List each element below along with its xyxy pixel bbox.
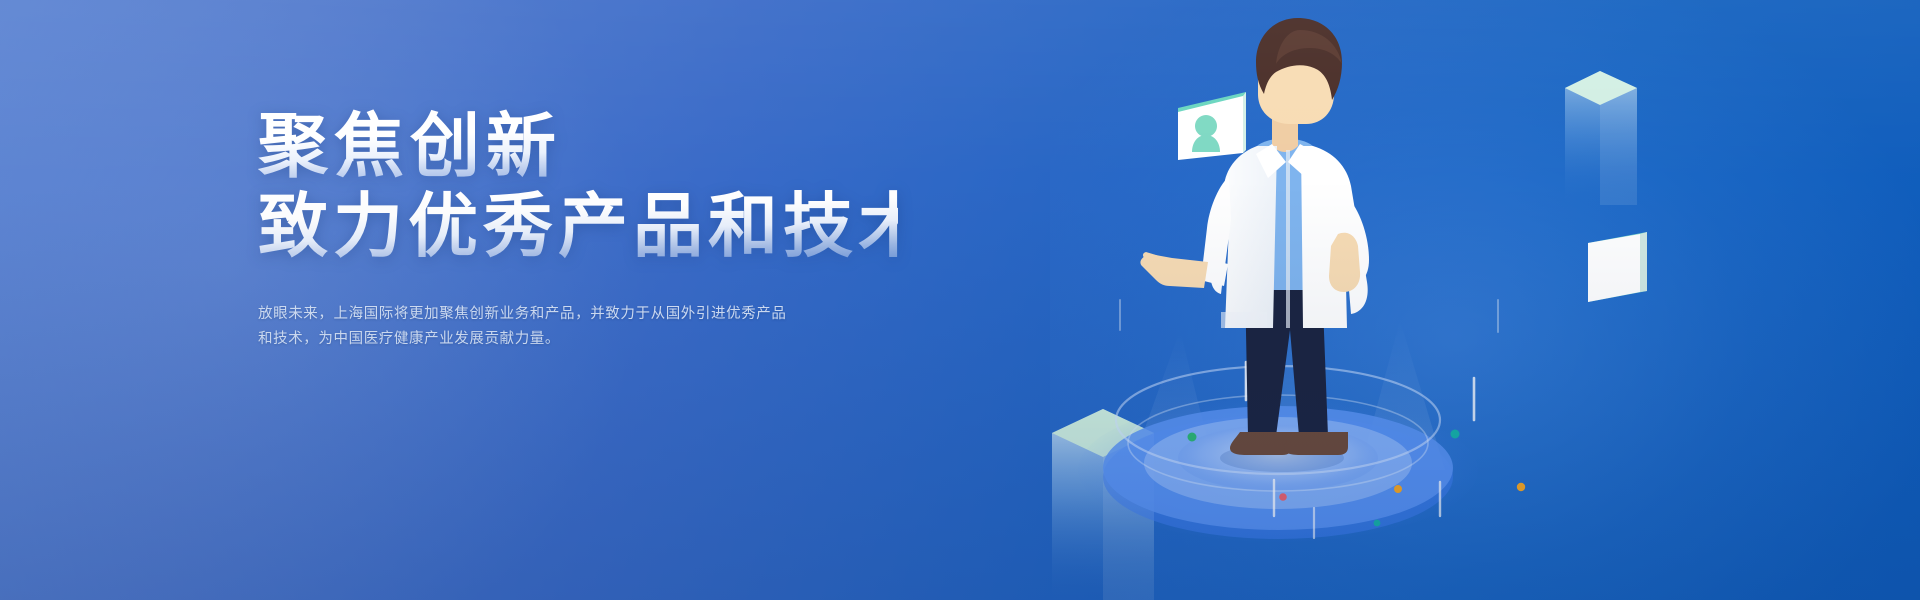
glowing-holographic-disc <box>1078 366 1478 542</box>
particle-dots <box>1188 402 1526 526</box>
body-paragraph: 放眼未来，上海国际将更加聚焦创新业务和产品，并致力于从国外引进优秀产品 和技术，… <box>258 302 858 352</box>
headline-line-1: 聚焦创新 <box>258 104 898 188</box>
doctor-figure <box>1140 18 1369 472</box>
hologram-beams <box>1130 300 1445 470</box>
hero-banner: 聚焦创新 致力优秀产品和技术 放眼未来，上海国际将更加聚焦创新业务和产品，并致力… <box>0 0 1920 600</box>
headline-line-2: 致力优秀产品和技术 <box>258 184 898 268</box>
isometric-pillar-left <box>1052 409 1154 600</box>
user-profile-hologram-card <box>1178 92 1246 160</box>
body-line-1: 放眼未来，上海国际将更加聚焦创新业务和产品，并致力于从国外引进优秀产品 <box>258 302 858 327</box>
light-streaks <box>1120 300 1498 538</box>
body-line-2: 和技术，为中国医疗健康产业发展贡献力量。 <box>258 327 858 352</box>
isometric-pillar-top-right <box>1565 71 1637 205</box>
background-glow-right <box>1050 0 1920 600</box>
white-isometric-card <box>1588 232 1647 302</box>
copy-block: 聚焦创新 致力优秀产品和技术 放眼未来，上海国际将更加聚焦创新业务和产品，并致力… <box>258 104 898 352</box>
